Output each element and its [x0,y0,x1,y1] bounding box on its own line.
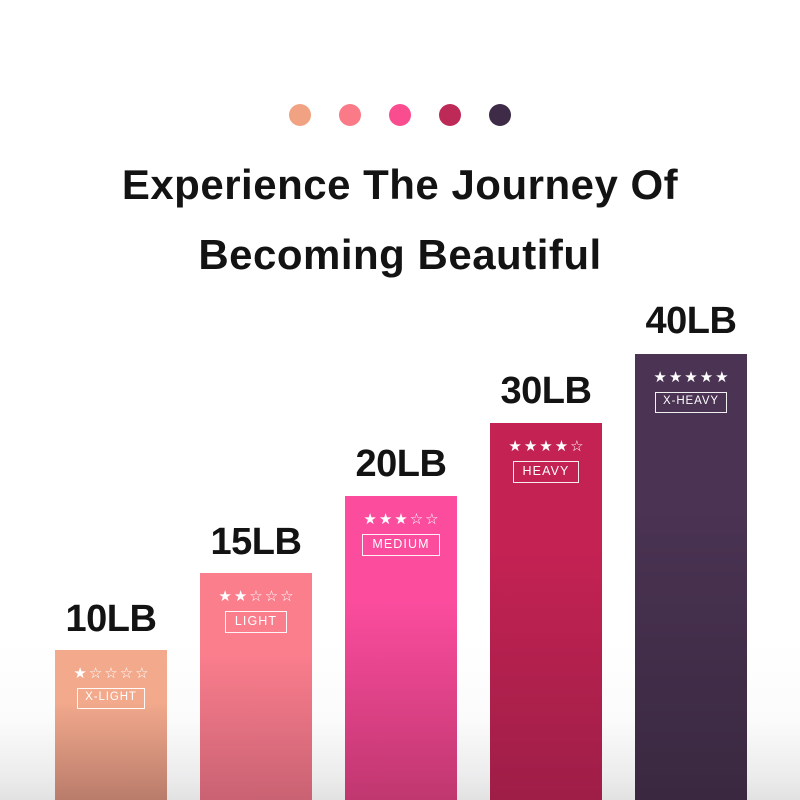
star-filled-icon: ★ [234,589,247,604]
star-filled-icon: ★ [653,370,666,385]
bar-weight-label: 20LB [356,443,447,486]
star-filled-icon: ★ [669,370,682,385]
resistance-bar-chart: 10LB★☆☆☆☆X-LIGHT15LB★★☆☆☆LIGHT20LB★★★☆☆M… [0,0,800,800]
bar-inner-content: ★★★★☆HEAVY [490,439,602,483]
star-empty-icon: ☆ [104,666,117,681]
star-empty-icon: ☆ [135,666,148,681]
star-empty-icon: ☆ [249,589,262,604]
star-filled-icon: ★ [700,370,713,385]
star-rating: ★★☆☆☆ [218,589,293,604]
level-badge: HEAVY [513,461,580,483]
level-badge: LIGHT [225,611,287,633]
bar-weight-label: 15LB [211,521,302,564]
star-rating: ★★★★☆ [508,439,583,454]
star-empty-icon: ☆ [120,666,133,681]
bar-rect[interactable]: ★★★★★X-HEAVY [635,354,747,800]
bar-inner-content: ★★☆☆☆LIGHT [200,589,312,633]
bar-inner-content: ★☆☆☆☆X-LIGHT [55,666,167,709]
level-badge: X-HEAVY [655,392,727,413]
bar-weight-label: 10LB [66,598,157,641]
star-filled-icon: ★ [555,439,568,454]
bar-rect[interactable]: ★☆☆☆☆X-LIGHT [55,650,167,800]
bar-rect[interactable]: ★★★★☆HEAVY [490,423,602,800]
star-empty-icon: ☆ [425,512,438,527]
bar-rect[interactable]: ★★★☆☆MEDIUM [345,496,457,800]
poster-canvas: Experience The Journey Of Becoming Beaut… [0,0,800,800]
bar-group-heavy[interactable]: 30LB★★★★☆HEAVY [490,423,602,800]
star-filled-icon: ★ [218,589,231,604]
star-filled-icon: ★ [73,666,86,681]
star-rating: ★☆☆☆☆ [73,666,148,681]
star-rating: ★★★☆☆ [363,512,438,527]
bar-weight-label: 40LB [646,300,737,343]
bar-group-light[interactable]: 15LB★★☆☆☆LIGHT [200,573,312,800]
star-empty-icon: ☆ [89,666,102,681]
level-badge: MEDIUM [362,534,439,556]
star-empty-icon: ☆ [265,589,278,604]
bar-rect[interactable]: ★★☆☆☆LIGHT [200,573,312,800]
bar-group-medium[interactable]: 20LB★★★☆☆MEDIUM [345,496,457,800]
bar-group-x-heavy[interactable]: 40LB★★★★★X-HEAVY [635,354,747,800]
star-filled-icon: ★ [379,512,392,527]
star-empty-icon: ☆ [570,439,583,454]
star-filled-icon: ★ [508,439,521,454]
bar-inner-content: ★★★★★X-HEAVY [635,370,747,413]
star-rating: ★★★★★ [653,370,728,385]
star-empty-icon: ☆ [280,589,293,604]
star-filled-icon: ★ [539,439,552,454]
level-badge: X-LIGHT [77,688,145,709]
star-filled-icon: ★ [394,512,407,527]
star-filled-icon: ★ [684,370,697,385]
bar-weight-label: 30LB [501,370,592,413]
star-filled-icon: ★ [715,370,728,385]
bar-inner-content: ★★★☆☆MEDIUM [345,512,457,556]
bar-group-x-light[interactable]: 10LB★☆☆☆☆X-LIGHT [55,650,167,800]
star-filled-icon: ★ [524,439,537,454]
star-filled-icon: ★ [363,512,376,527]
star-empty-icon: ☆ [410,512,423,527]
